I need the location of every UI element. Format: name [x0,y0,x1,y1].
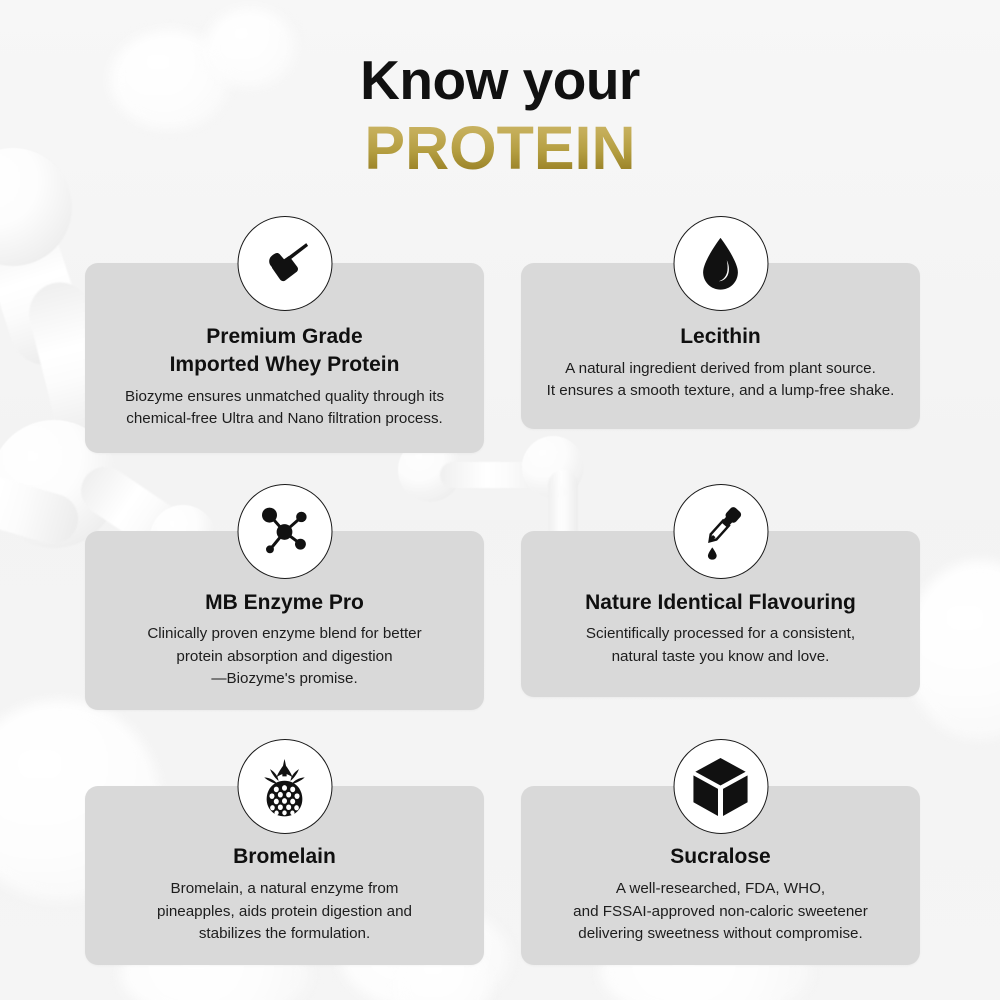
infographic-poster: Know your PROTEIN Premium Grade Imported… [0,0,1000,1000]
ingredient-card-nature-identical-flavouring: Nature Identical Flavouring Scientifical… [521,531,920,711]
bg-rod-3 [0,460,84,549]
page-header: Know your PROTEIN [0,52,1000,180]
card-body: Scientifically processed for a consisten… [539,623,902,668]
card-title: Bromelain [103,843,466,871]
ingredient-card-bromelain: Bromelain Bromelain, a natural enzyme fr… [85,786,484,965]
card-body: Bromelain, a natural enzyme from pineapp… [103,878,466,945]
card-body: Clinically proven enzyme blend for bette… [103,623,466,690]
card-title: Sucralose [539,843,902,871]
pineapple-icon [237,739,332,834]
ingredient-row-3: Bromelain Bromelain, a natural enzyme fr… [85,786,920,965]
ingredient-card-premium-grade-imported-whey-protein: Premium Grade Imported Whey Protein Bioz… [85,263,484,453]
protein-scoop-icon [237,216,332,311]
card-title: Premium Grade Imported Whey Protein [103,323,466,379]
ingredient-card-mb-enzyme-pro: MB Enzyme Pro Clinically proven enzyme b… [85,531,484,711]
ingredient-grid: Premium Grade Imported Whey Protein Bioz… [85,205,920,965]
ingredient-card-lecithin: Lecithin A natural ingredient derived fr… [521,263,920,453]
page-title-primary: Know your [0,52,1000,110]
card-title: MB Enzyme Pro [103,589,466,617]
water-drop-icon [673,216,768,311]
card-title: Nature Identical Flavouring [539,589,902,617]
dropper-pipette-icon [673,484,768,579]
molecule-network-icon [237,484,332,579]
card-body: A well-researched, FDA, WHO, and FSSAI-a… [539,878,902,945]
card-title: Lecithin [539,323,902,351]
sugar-cube-icon [673,739,768,834]
ingredient-row-2: MB Enzyme Pro Clinically proven enzyme b… [85,531,920,711]
ingredient-card-sucralose: Sucralose A well-researched, FDA, WHO, a… [521,786,920,965]
bg-rod-1 [0,209,93,375]
page-title-accent: PROTEIN [0,116,1000,180]
card-body: Biozyme ensures unmatched quality throug… [103,386,466,431]
card-body: A natural ingredient derived from plant … [539,358,902,403]
ingredient-row-1: Premium Grade Imported Whey Protein Bioz… [85,263,920,453]
